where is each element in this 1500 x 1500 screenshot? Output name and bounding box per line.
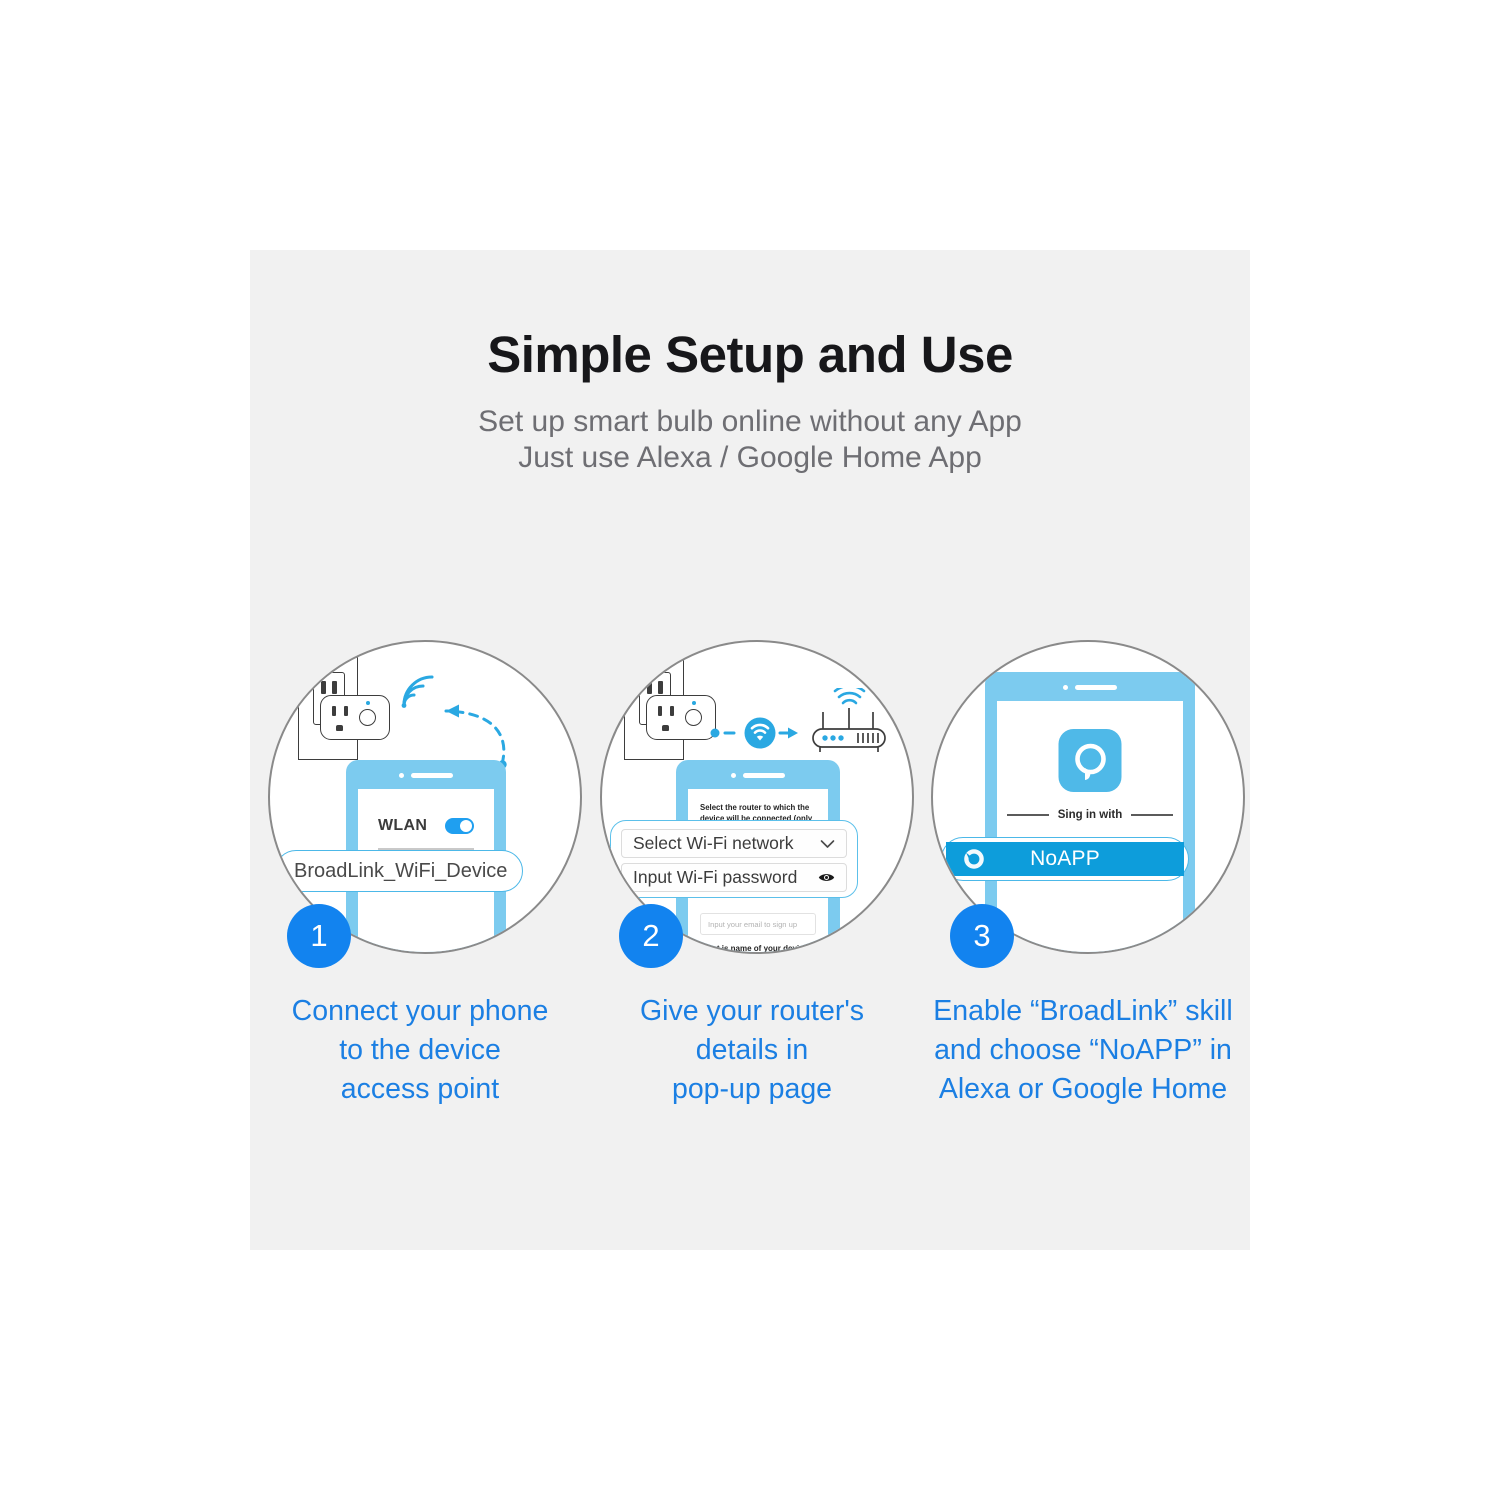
plug-socket-icon <box>329 704 351 733</box>
chevron-down-icon <box>820 839 835 849</box>
flow-start-dot <box>711 729 720 738</box>
caption-line-3: Alexa or Google Home <box>903 1070 1263 1109</box>
noapp-button[interactable]: NoAPP <box>946 842 1184 876</box>
wlan-toggle[interactable] <box>445 818 474 834</box>
caption-line-1: Connect your phone <box>240 992 600 1031</box>
noapp-label: NoAPP <box>1030 847 1100 871</box>
broadlink-logo-icon <box>962 847 986 871</box>
noapp-button-highlight: NoAPP <box>941 837 1189 881</box>
subtitle-line-1: Set up smart bulb online without any App <box>250 404 1250 440</box>
divider-rule-right <box>1131 814 1173 815</box>
page-subtitle: Set up smart bulb online without any App… <box>250 404 1250 476</box>
select-wifi-network-dropdown[interactable]: Select Wi-Fi network <box>621 829 847 858</box>
wlan-label: WLAN <box>378 817 427 835</box>
step-2-caption: Give your router's details in pop-up pag… <box>572 992 932 1108</box>
wifi-password-label: Input Wi-Fi password <box>633 867 797 888</box>
step-1-number-badge: 1 <box>287 904 351 968</box>
divider-rule-left <box>1007 814 1049 815</box>
phone-speaker-notch <box>1063 685 1117 690</box>
wlan-settings-row[interactable]: WLAN <box>378 817 474 835</box>
caption-line-1: Give your router's <box>572 992 932 1031</box>
step-1: WLAN BroadLink_WiFi_Device <box>255 640 585 1160</box>
caption-line-3: pop-up page <box>572 1070 932 1109</box>
network-name-pill[interactable]: BroadLink_WiFi_Device <box>275 850 523 892</box>
device-name-question: What is name of your device? <box>700 944 813 953</box>
smart-plug-icon <box>646 695 716 740</box>
flow-arrow-head <box>788 728 798 739</box>
caption-line-2: and choose “NoAPP” in <box>903 1031 1263 1070</box>
plug-power-button-icon <box>685 709 702 726</box>
wifi-circle-icon <box>745 718 776 749</box>
phone-speaker-notch <box>399 773 453 778</box>
caption-line-1: Enable “BroadLink” skill <box>903 992 1263 1031</box>
alexa-icon <box>1059 729 1122 792</box>
step-2-number-badge: 2 <box>619 904 683 968</box>
step-2: Select the router to which the device wi… <box>587 640 917 1160</box>
steps-row: WLAN BroadLink_WiFi_Device <box>250 640 1250 1160</box>
caption-line-2: details in <box>572 1031 932 1070</box>
smart-plug-icon <box>320 695 390 740</box>
wireless-router-icon <box>813 688 885 752</box>
phone-speaker-notch <box>731 773 785 778</box>
plug-led-indicator <box>366 701 370 705</box>
step-3-caption: Enable “BroadLink” skill and choose “NoA… <box>903 992 1263 1108</box>
plug-led-indicator <box>692 701 696 705</box>
wifi-credentials-card: Select Wi-Fi network Input Wi-Fi passwor… <box>610 820 858 898</box>
connection-flow-diagram <box>710 688 900 758</box>
step-3-phone: Sing in with <box>985 672 1195 954</box>
subtitle-line-2: Just use Alexa / Google Home App <box>250 440 1250 476</box>
step-1-caption: Connect your phone to the device access … <box>240 992 600 1108</box>
step-3: Sing in with NoAPP 3 <box>918 640 1248 1160</box>
signin-divider: Sing in with <box>1007 809 1173 821</box>
step-3-number-badge: 3 <box>950 904 1014 968</box>
header: Simple Setup and Use Set up smart bulb o… <box>250 328 1250 476</box>
signin-label: Sing in with <box>1058 809 1123 821</box>
infographic-panel: Simple Setup and Use Set up smart bulb o… <box>250 250 1250 1250</box>
wifi-password-field[interactable]: Input Wi-Fi password <box>621 863 847 892</box>
alexa-glyph <box>1070 741 1110 781</box>
select-wifi-network-label: Select Wi-Fi network <box>633 833 793 854</box>
caption-line-2: to the device <box>240 1031 600 1070</box>
plug-power-button-icon <box>359 709 376 726</box>
phone-screen: Sing in with <box>997 701 1183 954</box>
page-title: Simple Setup and Use <box>250 328 1250 382</box>
email-field[interactable]: Input your email to sign up <box>700 913 816 935</box>
eye-icon[interactable] <box>818 872 835 883</box>
caption-line-3: access point <box>240 1070 600 1109</box>
plug-socket-icon <box>655 704 677 733</box>
network-name-label: BroadLink_WiFi_Device <box>294 860 507 883</box>
